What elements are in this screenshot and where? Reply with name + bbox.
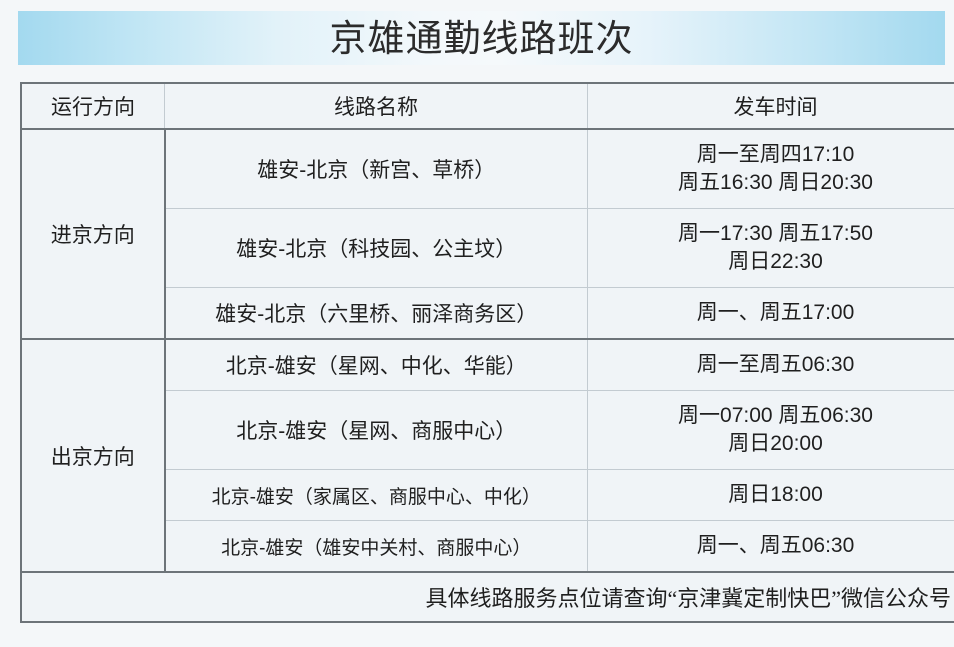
departure-time-cell: 周一17:30 周五17:50 周日22:30 xyxy=(588,209,954,288)
column-header-departure-time: 发车时间 xyxy=(588,83,954,129)
direction-cell-outbound: 出京方向 xyxy=(21,339,165,572)
time-line: 周一至周五06:30 xyxy=(594,351,954,379)
table-row: 出京方向 北京-雄安（星网、中化、华能） 周一至周五06:30 xyxy=(21,339,954,391)
time-line: 周日18:00 xyxy=(594,481,954,509)
time-line: 周一、周五17:00 xyxy=(594,299,954,327)
departure-time-cell: 周一至周四17:10 周五16:30 周日20:30 xyxy=(588,129,954,209)
time-line: 周一17:30 周五17:50 xyxy=(594,220,954,248)
line-name-cell: 北京-雄安（星网、商服中心） xyxy=(165,391,588,470)
departure-time-cell: 周一至周五06:30 xyxy=(588,339,954,391)
departure-time-cell: 周一07:00 周五06:30 周日20:00 xyxy=(588,391,954,470)
line-name-cell: 雄安-北京（新宫、草桥） xyxy=(165,129,588,209)
title-banner: 京雄通勤线路班次 xyxy=(18,11,945,65)
time-line: 周日22:30 xyxy=(594,248,954,276)
page-title: 京雄通勤线路班次 xyxy=(330,20,634,57)
column-header-direction: 运行方向 xyxy=(21,83,165,129)
direction-cell-inbound: 进京方向 xyxy=(21,129,165,339)
footnote-cell: 具体线路服务点位请查询“京津冀定制快巴”微信公众号 xyxy=(21,572,954,622)
time-line: 周一07:00 周五06:30 xyxy=(594,402,954,430)
line-name-cell: 北京-雄安（雄安中关村、商服中心） xyxy=(165,521,588,573)
line-name-cell: 雄安-北京（六里桥、丽泽商务区） xyxy=(165,288,588,340)
line-name-cell: 北京-雄安（家属区、商服中心、中化） xyxy=(165,470,588,521)
time-line: 周一至周四17:10 xyxy=(594,141,954,169)
departure-time-cell: 周日18:00 xyxy=(588,470,954,521)
schedule-table: 运行方向 线路名称 发车时间 进京方向 雄安-北京（新宫、草桥） 周一至周四17… xyxy=(20,82,954,623)
table-header-row: 运行方向 线路名称 发车时间 xyxy=(21,83,954,129)
line-name-cell: 北京-雄安（星网、中化、华能） xyxy=(165,339,588,391)
column-header-line-name: 线路名称 xyxy=(165,83,588,129)
departure-time-cell: 周一、周五17:00 xyxy=(588,288,954,340)
departure-time-cell: 周一、周五06:30 xyxy=(588,521,954,573)
time-line: 周一、周五06:30 xyxy=(594,532,954,560)
table-footnote-row: 具体线路服务点位请查询“京津冀定制快巴”微信公众号 xyxy=(21,572,954,622)
time-line: 周日20:00 xyxy=(594,430,954,458)
table-row: 进京方向 雄安-北京（新宫、草桥） 周一至周四17:10 周五16:30 周日2… xyxy=(21,129,954,209)
line-name-cell: 雄安-北京（科技园、公主坟） xyxy=(165,209,588,288)
time-line: 周五16:30 周日20:30 xyxy=(594,169,954,197)
